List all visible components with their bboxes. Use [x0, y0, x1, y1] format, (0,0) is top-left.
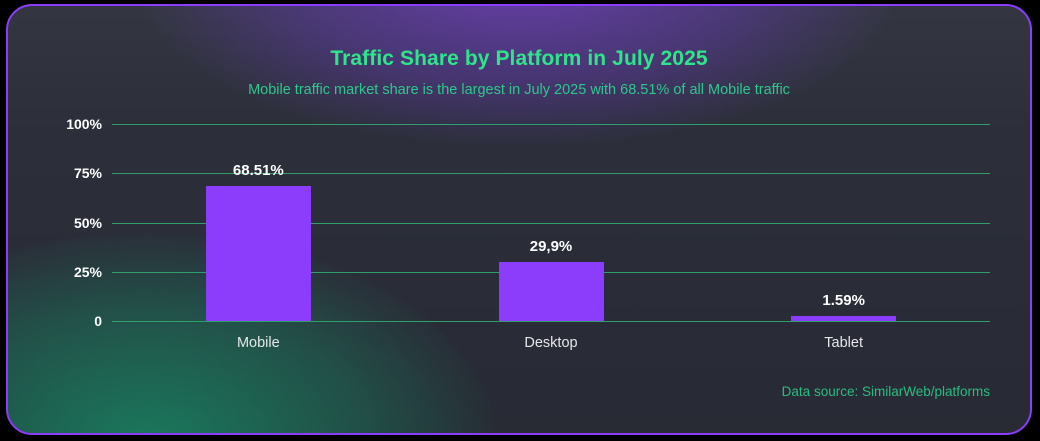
bar-value-label-desktop: 29,9% — [530, 238, 573, 255]
chart-title: Traffic Share by Platform in July 2025 — [8, 47, 1030, 71]
category-label-mobile: Mobile — [237, 335, 280, 351]
chart-content: Traffic Share by Platform in July 2025 M… — [8, 6, 1030, 433]
bar-value-label-tablet: 1.59% — [822, 292, 865, 309]
plot-area: 025%50%75%100% 68.51%29,9%1.59% — [112, 124, 990, 321]
bar-mobile[interactable] — [206, 186, 311, 321]
y-tick-label-25: 25% — [44, 264, 102, 280]
category-label-tablet: Tablet — [824, 335, 863, 351]
y-tick-label-0: 0 — [44, 313, 102, 329]
category-label-desktop: Desktop — [524, 335, 577, 351]
y-tick-label-100: 100% — [44, 116, 102, 132]
y-tick-label-75: 75% — [44, 165, 102, 181]
bar-desktop[interactable] — [499, 262, 604, 321]
chart-card: Traffic Share by Platform in July 2025 M… — [6, 4, 1032, 435]
x-axis-category-labels: MobileDesktopTablet — [112, 321, 990, 351]
y-tick-label-50: 50% — [44, 215, 102, 231]
gridline-100 — [112, 124, 990, 125]
bar-value-label-mobile: 68.51% — [233, 162, 284, 179]
data-source-note: Data source: SimilarWeb/platforms — [782, 384, 990, 399]
chart-subtitle: Mobile traffic market share is the large… — [8, 82, 1030, 98]
